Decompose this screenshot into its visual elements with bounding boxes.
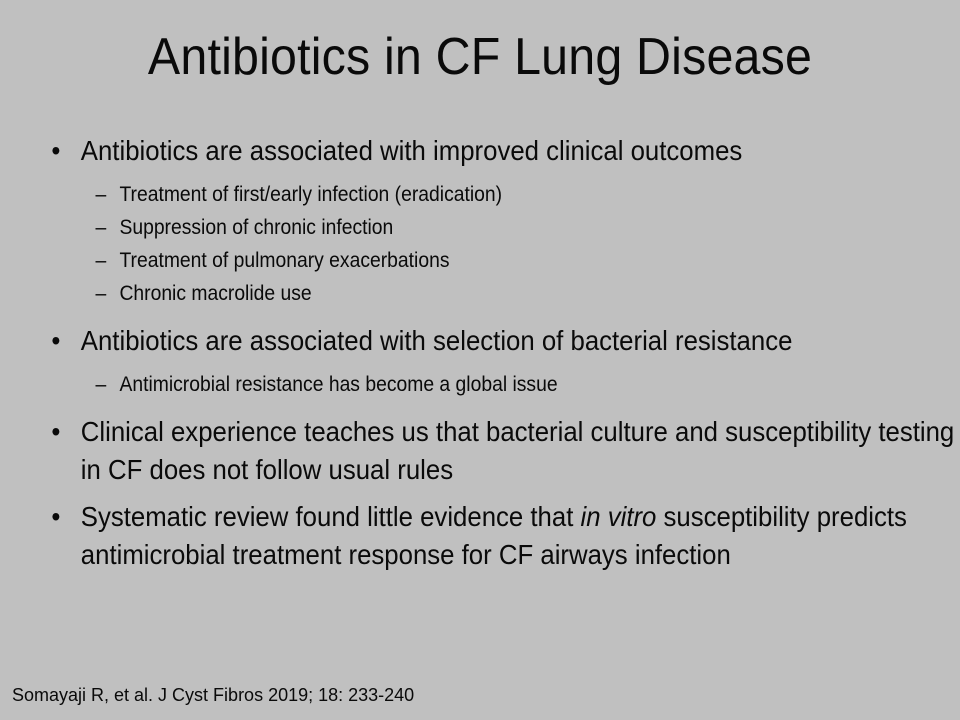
bullet-level1-text-before-italic: Systematic review found little evidence …: [81, 501, 581, 532]
bullet-level1-item: • Systematic review found little evidenc…: [44, 498, 960, 574]
bullet-dot-icon: •: [51, 413, 60, 451]
spacer: [44, 491, 934, 498]
bullet-dash-icon: –: [96, 179, 107, 210]
bullet-dot-icon: •: [51, 498, 60, 536]
bullet-dash-icon: –: [96, 369, 107, 400]
bullet-level2-item: – Treatment of first/early infection (er…: [44, 179, 960, 210]
slide-canvas: Antibiotics in CF Lung Disease • Antibio…: [0, 0, 960, 720]
bullet-level1-text-italic: in vitro: [581, 501, 657, 532]
bullet-level2-text: Treatment of pulmonary exacerbations: [119, 249, 449, 272]
bullet-dash-icon: –: [96, 278, 107, 309]
citation-reference: Somayaji R, et al. J Cyst Fibros 2019; 1…: [12, 684, 414, 706]
bullet-level2-item: – Suppression of chronic infection: [44, 212, 960, 243]
bullet-dot-icon: •: [51, 322, 60, 360]
spacer: [44, 311, 934, 322]
bullet-level2-item: – Antimicrobial resistance has become a …: [44, 369, 960, 400]
bullet-level2-text: Chronic macrolide use: [119, 282, 311, 305]
spacer: [44, 172, 934, 179]
bullet-level2-item: – Chronic macrolide use: [44, 278, 960, 309]
bullet-level1-item: • Antibiotics are associated with select…: [44, 322, 960, 360]
bullet-dash-icon: –: [96, 212, 107, 243]
bullet-dot-icon: •: [51, 132, 60, 170]
bullet-level1-text: Clinical experience teaches us that bact…: [81, 416, 954, 485]
bullet-level2-text: Treatment of first/early infection (erad…: [119, 183, 502, 206]
bullet-level1-item: • Antibiotics are associated with improv…: [44, 132, 960, 170]
bullet-level2-text: Suppression of chronic infection: [119, 216, 393, 239]
bullet-dash-icon: –: [96, 245, 107, 276]
bullet-level2-text: Antimicrobial resistance has become a gl…: [119, 373, 557, 396]
spacer: [44, 402, 934, 413]
slide-title: Antibiotics in CF Lung Disease: [34, 28, 927, 86]
bullet-level1-text: Antibiotics are associated with selectio…: [81, 325, 793, 356]
bullet-level1-text: Antibiotics are associated with improved…: [81, 135, 742, 166]
bullet-level1-item: • Clinical experience teaches us that ba…: [44, 413, 960, 489]
spacer: [44, 362, 934, 369]
slide-body-content: • Antibiotics are associated with improv…: [44, 132, 934, 576]
bullet-level2-item: – Treatment of pulmonary exacerbations: [44, 245, 960, 276]
